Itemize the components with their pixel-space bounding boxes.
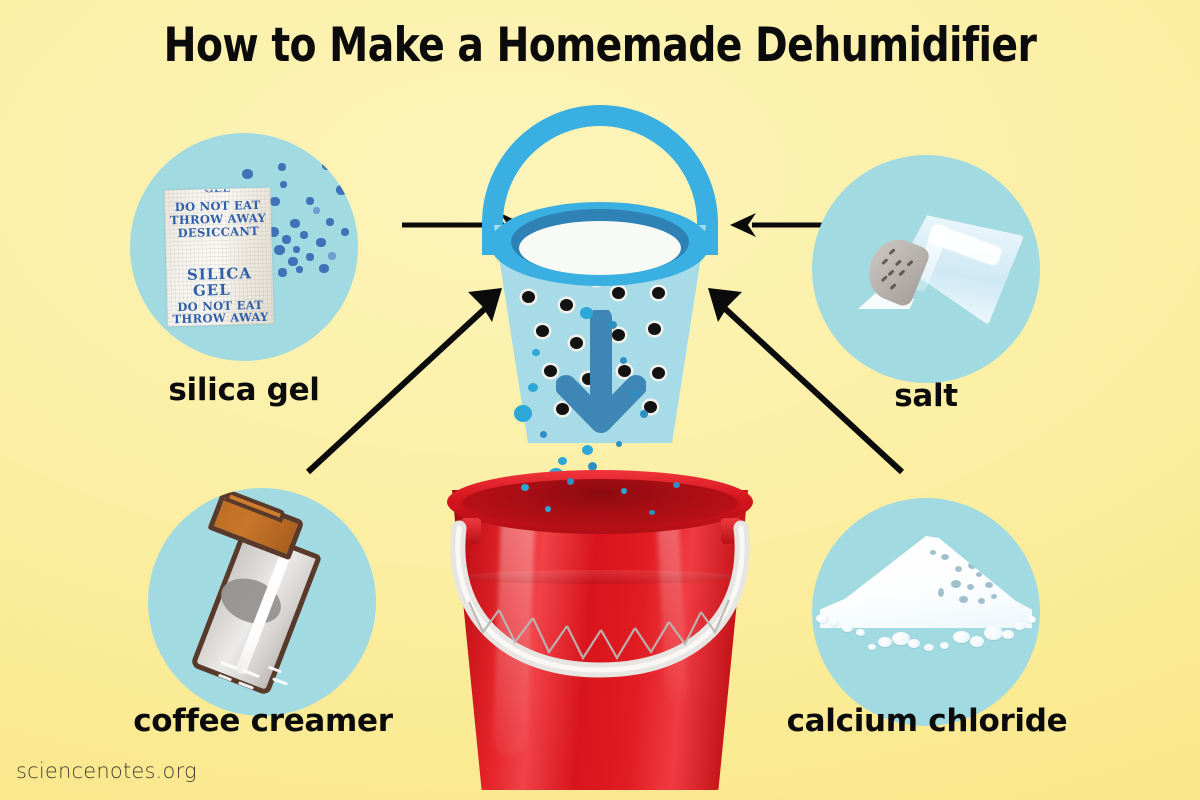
- powder-speck: [985, 582, 993, 588]
- powder-grain: [830, 619, 839, 626]
- silica-bead: [326, 218, 334, 226]
- powder-speck: [941, 554, 949, 560]
- water-droplet: [528, 383, 538, 392]
- shaker-hole: [881, 275, 888, 282]
- powder-grain: [940, 642, 949, 649]
- shaker-hole: [888, 248, 895, 255]
- page-title: How to Make a Homemade Dehumidifier: [42, 18, 1158, 73]
- powder-speck: [978, 598, 985, 604]
- powder-grain: [970, 636, 984, 647]
- water-droplet: [649, 510, 655, 515]
- silica-bead: [313, 207, 320, 214]
- silica-bead: [290, 219, 300, 228]
- silica-bead: [242, 169, 253, 179]
- water-droplet: [608, 321, 617, 329]
- ingredient-label-silica-gel: silica gel: [130, 372, 358, 408]
- ingredient-label-calcium-chloride: calcium chloride: [782, 703, 1072, 739]
- coffee-creamer-circle: [148, 488, 376, 716]
- shaker-hole: [887, 269, 894, 276]
- powder-pile-icon: [820, 536, 1032, 628]
- silica-bead: [333, 169, 341, 177]
- silica-bead: [282, 235, 291, 244]
- salt-circle: [812, 155, 1040, 383]
- silica-bead: [300, 231, 308, 239]
- powder-grain: [924, 644, 934, 651]
- colander-hole: [612, 287, 625, 299]
- packet-cut-line: GEL: [164, 182, 270, 196]
- infographic-canvas: How to Make a Homemade Dehumidifier: [0, 0, 1200, 800]
- silica-bead: [316, 238, 326, 247]
- colander-hole: [652, 367, 665, 379]
- water-droplet: [640, 410, 648, 418]
- creamer-jar-icon: [180, 498, 350, 708]
- water-droplet: [673, 482, 680, 488]
- shaker-hole: [881, 258, 888, 265]
- shaker-hole: [889, 283, 896, 290]
- water-droplet: [540, 431, 547, 438]
- shaker-hole: [895, 259, 902, 266]
- water-droplet: [580, 307, 593, 319]
- silica-bead: [306, 197, 314, 205]
- colander-hole: [648, 323, 661, 335]
- silica-bead: [288, 257, 298, 266]
- downward-water-flow-arrow: [556, 310, 646, 440]
- shaker-hole: [906, 260, 913, 267]
- silica-bead: [319, 264, 329, 273]
- silica-bead: [278, 163, 286, 171]
- water-droplet: [514, 405, 532, 422]
- powder-speck: [951, 580, 961, 588]
- packet-line-7: THROW AWAY: [167, 312, 273, 326]
- powder-speck: [968, 562, 977, 569]
- silica-bead: [280, 181, 287, 188]
- water-droplet: [616, 441, 622, 447]
- silica-bead: [293, 246, 300, 253]
- water-droplet: [532, 349, 540, 356]
- powder-grain: [1014, 622, 1025, 630]
- perforated-blue-colander: [470, 105, 730, 465]
- powder-grain: [908, 639, 920, 648]
- powder-speck: [930, 550, 936, 555]
- colander-hole: [652, 287, 665, 299]
- salt-shaker-icon: [852, 183, 1022, 353]
- silica-bead: [274, 245, 285, 255]
- powder-speck: [967, 584, 974, 590]
- colander-contents: [519, 221, 681, 275]
- silica-bead: [336, 185, 347, 195]
- water-droplet: [620, 357, 627, 364]
- powder-grain: [1002, 630, 1014, 639]
- packet-line-3: DESICCANT: [165, 226, 271, 240]
- water-droplet: [521, 484, 529, 491]
- water-droplet: [567, 478, 574, 485]
- ingredient-label-coffee-creamer: coffee creamer: [118, 703, 408, 739]
- water-droplet: [582, 445, 593, 455]
- colander-hole: [522, 291, 535, 303]
- silica-bead: [328, 252, 336, 260]
- silica-gel-circle: GEL DO NOT EAT THROW AWAY DESICCANT SILI…: [130, 133, 358, 361]
- silica-gel-packet-icon: GEL DO NOT EAT THROW AWAY DESICCANT SILI…: [164, 188, 274, 327]
- powder-grain: [856, 629, 865, 636]
- powder-speck: [976, 572, 982, 577]
- site-watermark: sciencenotes.org: [16, 759, 197, 783]
- powder-grain: [953, 631, 970, 643]
- powder-grain: [1027, 616, 1036, 623]
- silica-bead: [296, 266, 303, 273]
- bucket-handle[interactable]: [425, 462, 775, 800]
- powder-speck: [955, 566, 962, 572]
- powder-grain: [842, 624, 853, 632]
- powder-speck: [938, 588, 944, 597]
- shaker-hole: [898, 269, 905, 276]
- water-droplet: [630, 390, 639, 398]
- powder-speck: [959, 596, 968, 603]
- silica-bead: [270, 197, 280, 206]
- water-droplet: [621, 488, 627, 494]
- silica-bead: [322, 161, 332, 170]
- colander-hole: [536, 325, 549, 337]
- powder-grain: [868, 644, 876, 650]
- creamer-dash: [272, 677, 288, 686]
- powder-grain: [984, 626, 1003, 640]
- calcium-chloride-circle: [812, 498, 1040, 726]
- red-collection-bucket: [425, 462, 775, 800]
- powder-grain: [816, 614, 829, 623]
- water-droplet: [545, 506, 551, 512]
- powder-grain: [878, 637, 892, 647]
- powder-speck: [991, 594, 997, 599]
- ingredient-label-salt: salt: [812, 378, 1040, 414]
- silica-bead: [341, 228, 349, 236]
- silica-bead: [306, 253, 314, 261]
- silica-bead: [278, 268, 287, 277]
